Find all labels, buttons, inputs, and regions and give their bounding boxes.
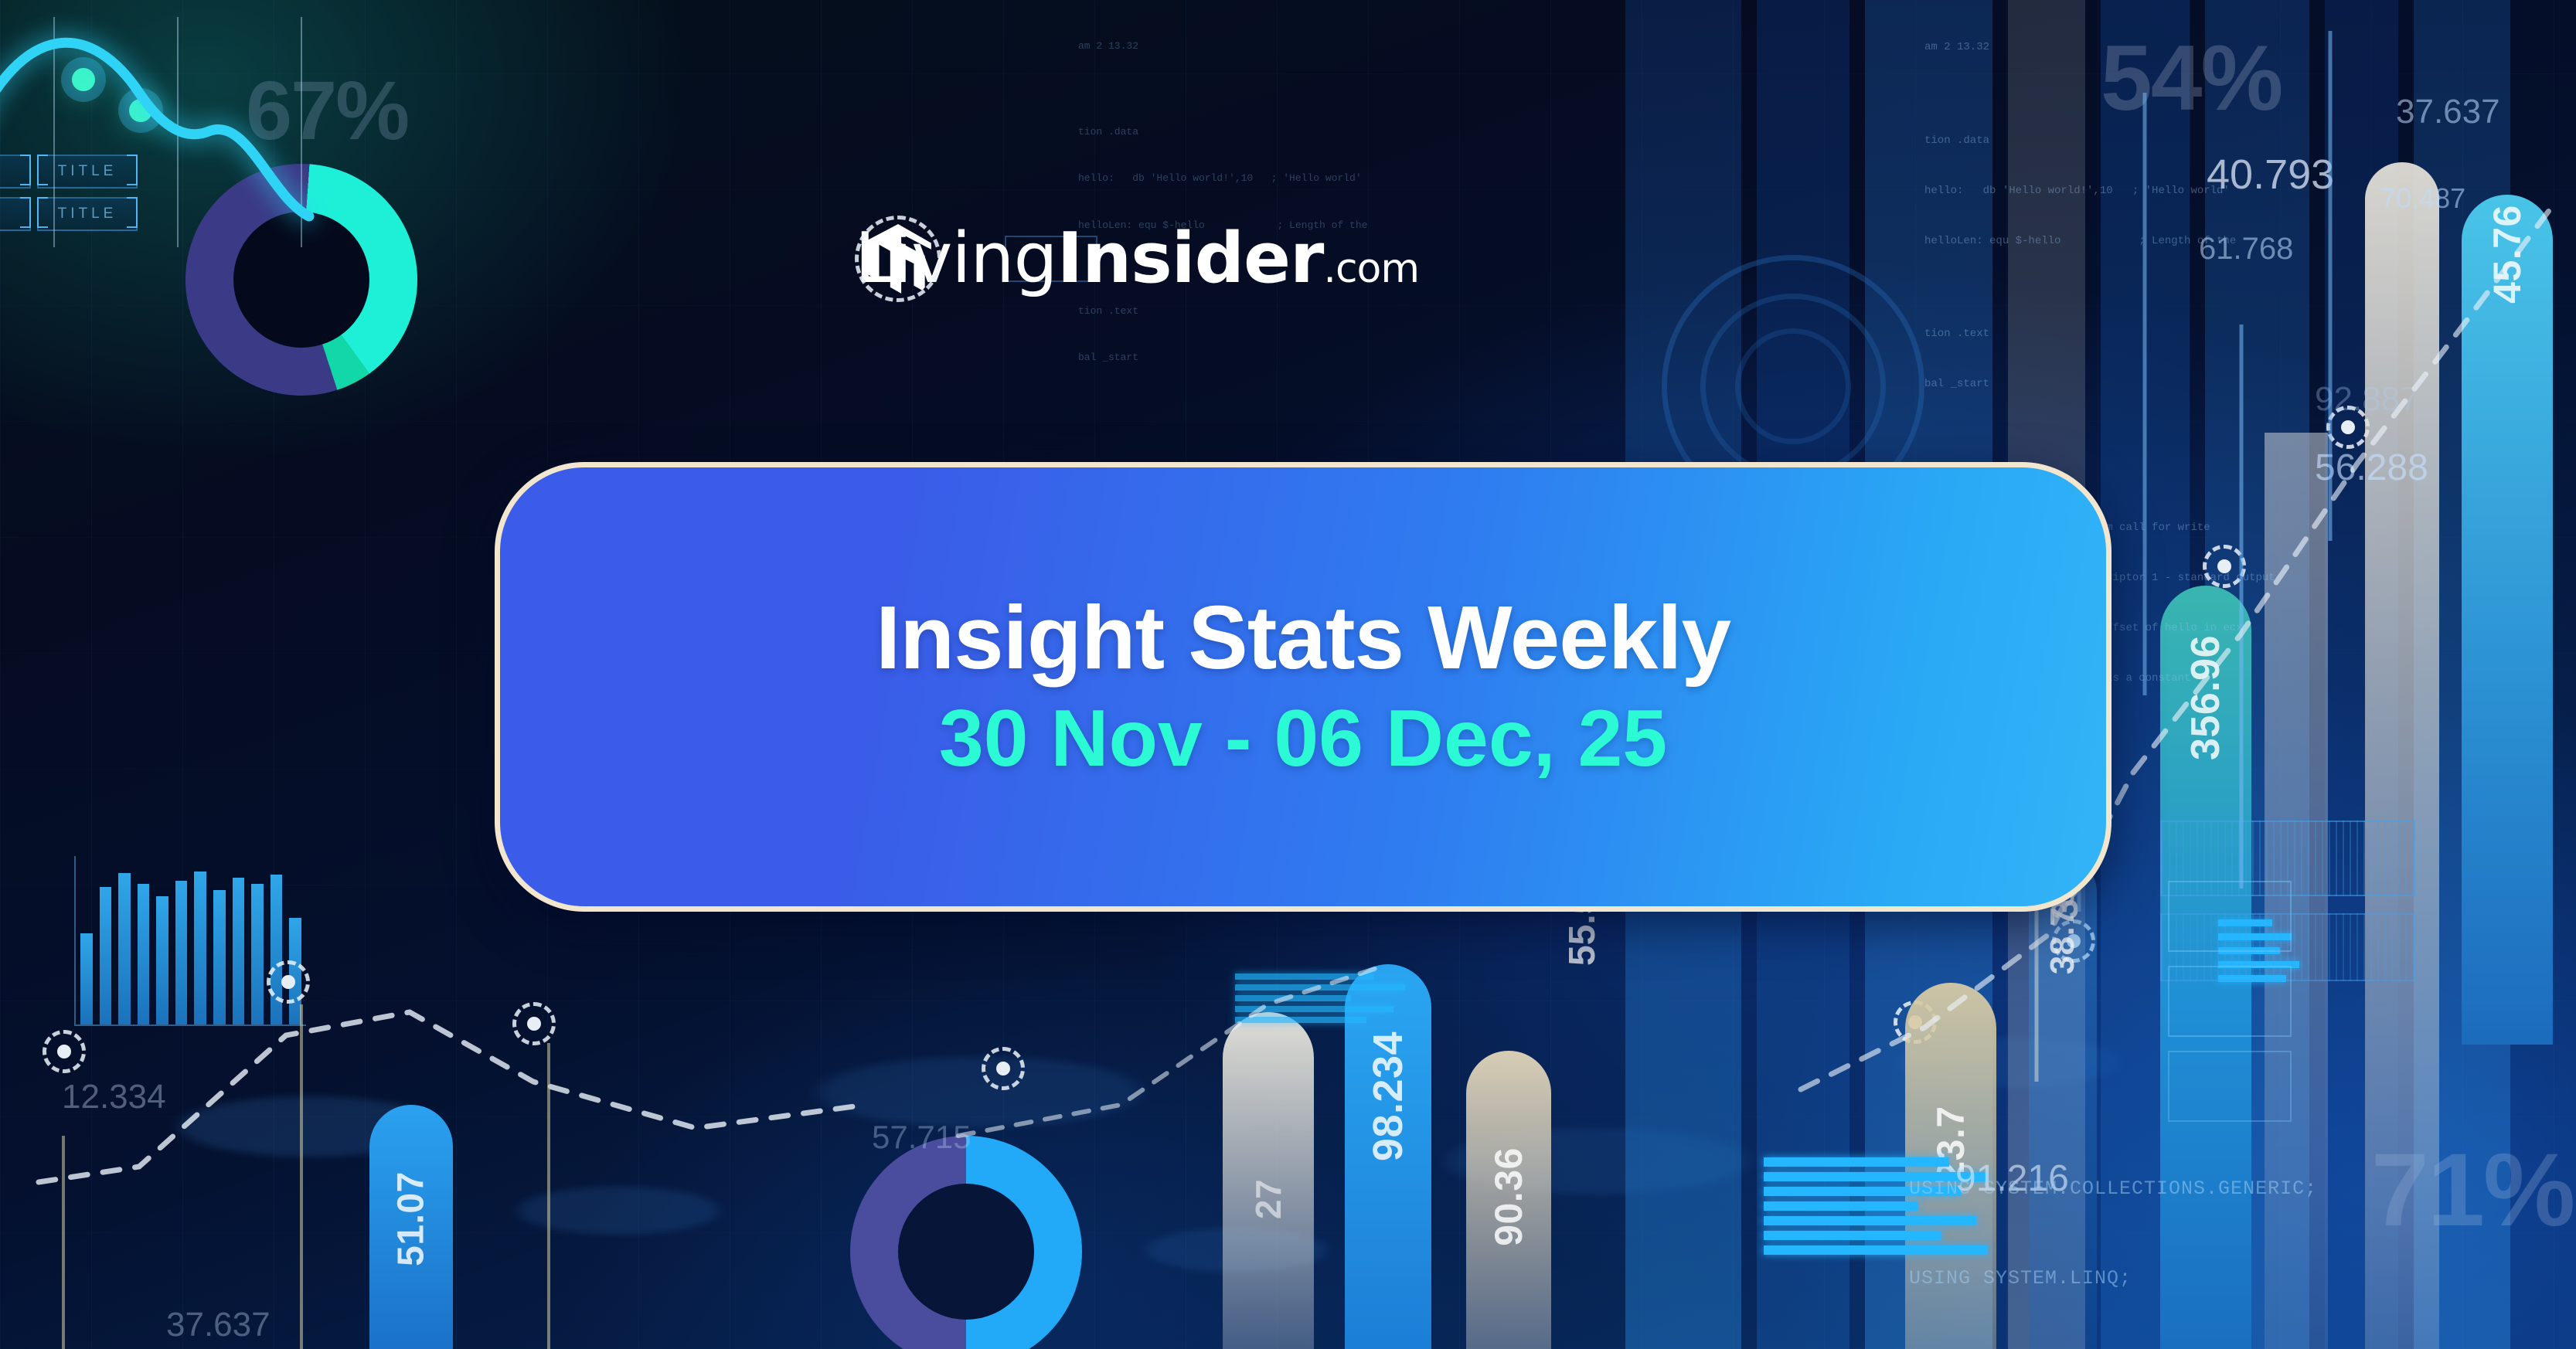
code-line: am 2 13.32 [1078,39,1367,54]
code-line: bal _start [1078,350,1367,365]
capsule-bar-value: 90.36 [1486,1147,1531,1246]
data-label-37637-top: 37.637 [2396,93,2500,131]
percent-label-71: 71% [2371,1131,2574,1249]
insight-stats-card[interactable]: Insight Stats Weekly 30 Nov - 06 Dec, 25 [495,462,2112,912]
data-label-92887: 92.887 [2315,380,2419,419]
deco-ring-inner [1735,328,1851,444]
code-line: tion .text [1078,304,1367,319]
trend-marker-3 [512,1002,556,1045]
data-label-37637-bottom: 37.637 [166,1306,271,1344]
title-box-4 [0,197,31,231]
title-box-label: TITLE [58,206,117,223]
card-title: Insight Stats Weekly [876,588,1730,688]
code-line: tion .data [1924,133,2275,150]
trend-marker-1 [43,1030,86,1073]
wave-datapoint-2 [129,99,152,122]
capsule-bar-value: 27 [1247,1179,1289,1219]
mini-bar-chart-bottom-left [74,856,306,1026]
code-line: USING SYSTEM.COLLECTIONS.GENERIC; [1909,1174,2367,1205]
title-box-2: TITLE [37,197,138,231]
percent-label-67: 67% [246,62,408,158]
capsule-bar-value: 98.234 [1364,1031,1412,1161]
title-box-label: TITLE [58,163,117,180]
code-line: hello: db 'Hello world!',10 ; 'Hello wor… [1078,171,1367,186]
capsule-bar-5107: 51.07 [369,1105,453,1349]
stats-banner: TITLE TITLE [0,0,2576,1349]
data-label-12334: 12.334 [62,1078,166,1116]
cyan-stripe-stack-3 [1235,974,1405,1023]
code-line: USING SYSTEM.LINQ; [1909,1264,2367,1294]
brand-logo[interactable]: LivingInsider.com [855,224,1419,294]
brand-name-bold: Insider [1057,218,1324,299]
code-block-top: am 2 13.32 tion .data hello: db 'Hello w… [1078,8,1367,396]
data-label-70487: 70.487 [2380,182,2465,215]
donut-chart-upper-left [185,164,417,396]
data-label-57715: 57.715 [872,1119,971,1156]
title-box-1: TITLE [37,155,138,189]
capsule-bar-9036: 90.36 [1466,1051,1551,1349]
wave-datapoint-1 [72,68,95,91]
data-label-56288: 56.288 [2315,447,2428,489]
title-box-3 [0,155,31,189]
code-line: tion .data [1078,124,1367,140]
capsule-bar-value: 45.76 [2485,205,2530,304]
card-date-range: 30 Nov - 06 Dec, 25 [939,693,1667,786]
capsule-bar-value: 51.07 [390,1171,433,1266]
capsule-bar-4576: 45.76 [2462,195,2553,1045]
brand-tld: .com [1323,246,1419,292]
capsule-bar-27: 27 [1223,1012,1314,1349]
code-line: helloLen: equ $-hello ; Length of the [1924,233,2275,250]
isometric-house-logo-icon [855,216,941,302]
code-line: am 2 13.32 [1924,39,2275,56]
code-line: tion .text [1924,326,2275,343]
code-block-lower-right: USING SYSTEM.COLLECTIONS.GENERIC; USING … [1909,1114,2367,1349]
trend-marker-2 [267,960,310,1004]
code-line: hello: db 'Hello world!',10 ; 'Hello wor… [1924,183,2275,200]
code-line: bal _start [1924,376,2275,393]
trend-marker-4 [982,1047,1025,1090]
